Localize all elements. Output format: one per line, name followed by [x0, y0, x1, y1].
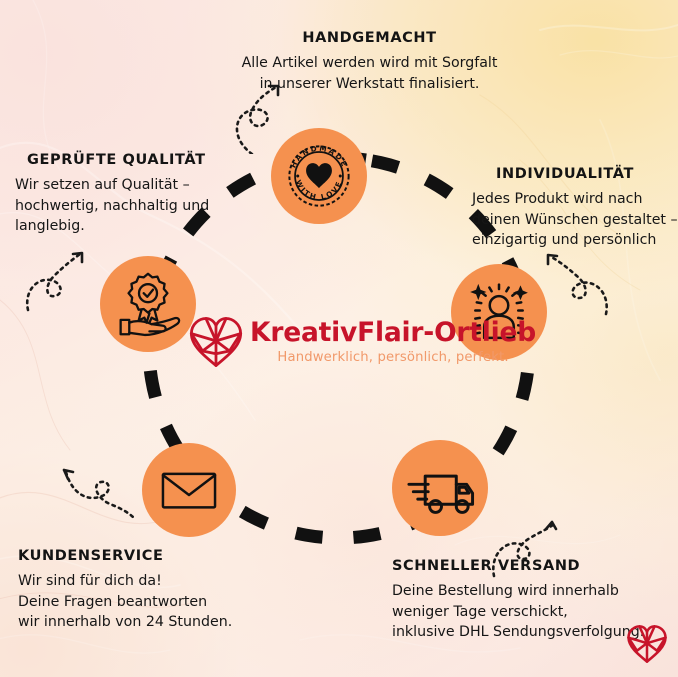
- feature-title-handgemacht: HANDGEMACHT: [197, 30, 542, 46]
- stamp-text-top: HANDMADE: [288, 144, 349, 170]
- feature-node-handgemacht[interactable]: HANDMADE WITH LOVE: [271, 128, 367, 224]
- feature-line: in unserer Werkstatt finalisiert.: [197, 74, 542, 95]
- infographic-canvas: HANDMADE WITH LOVE HANDGEMACHT Alle Arti…: [0, 0, 678, 677]
- feature-line: Jedes Produkt wird nach: [472, 189, 678, 210]
- feature-text-individualitaet: INDIVIDUALITÄT Jedes Produkt wird nach d…: [472, 166, 678, 251]
- feature-line: weniger Tage verschickt,: [392, 602, 678, 623]
- feature-title-individualitaet: INDIVIDUALITÄT: [496, 166, 678, 182]
- feature-text-gepruefte-qualitaet: GEPRÜFTE QUALITÄT Wir setzen auf Qualitä…: [15, 152, 245, 237]
- feature-title-schneller-versand: SCHNELLER VERSAND: [392, 558, 678, 574]
- feature-line: wir innerhalb von 24 Stunden.: [18, 612, 288, 633]
- brand-logo[interactable]: KreativFlair-Ortlieb Handwerklich, persö…: [188, 316, 536, 368]
- faceted-heart-watermark-icon: [626, 624, 668, 664]
- feature-text-kundenservice: KUNDENSERVICE Wir sind für dich da! Dein…: [18, 548, 288, 633]
- hand-holding-quality-seal-icon: [112, 268, 184, 340]
- feature-line: hochwertig, nachhaltig und: [15, 196, 245, 217]
- feature-title-gepruefte-qualitaet: GEPRÜFTE QUALITÄT: [27, 152, 245, 168]
- corner-watermark: [626, 624, 668, 668]
- envelope-icon: [158, 459, 220, 521]
- feature-line: deinen Wünschen gestaltet –: [472, 210, 678, 231]
- faceted-heart-icon: [188, 316, 244, 368]
- feature-line: Wir sind für dich da!: [18, 571, 288, 592]
- feature-text-handgemacht: HANDGEMACHT Alle Artikel werden wird mit…: [197, 30, 542, 94]
- feature-node-schneller-versand[interactable]: [392, 440, 488, 536]
- feature-node-gepruefte-qualitaet[interactable]: [100, 256, 196, 352]
- feature-line: Alle Artikel werden wird mit Sorgfalt: [197, 53, 542, 74]
- feature-node-kundenservice[interactable]: [142, 443, 236, 537]
- feature-title-kundenservice: KUNDENSERVICE: [18, 548, 288, 564]
- feature-line: Wir setzen auf Qualität –: [15, 175, 245, 196]
- brand-tagline: Handwerklich, persönlich, perfekt.: [250, 350, 536, 365]
- handmade-with-love-stamp-icon: HANDMADE WITH LOVE: [281, 138, 357, 214]
- brand-name: KreativFlair-Ortlieb: [250, 319, 536, 347]
- feature-line: einzigartig und persönlich: [472, 230, 678, 251]
- feature-line: langlebig.: [15, 216, 245, 237]
- svg-text:HANDMADE: HANDMADE: [288, 144, 349, 170]
- feature-line: Deine Fragen beantworten: [18, 592, 288, 613]
- feature-line: Deine Bestellung wird innerhalb: [392, 581, 678, 602]
- delivery-truck-icon: [403, 451, 477, 525]
